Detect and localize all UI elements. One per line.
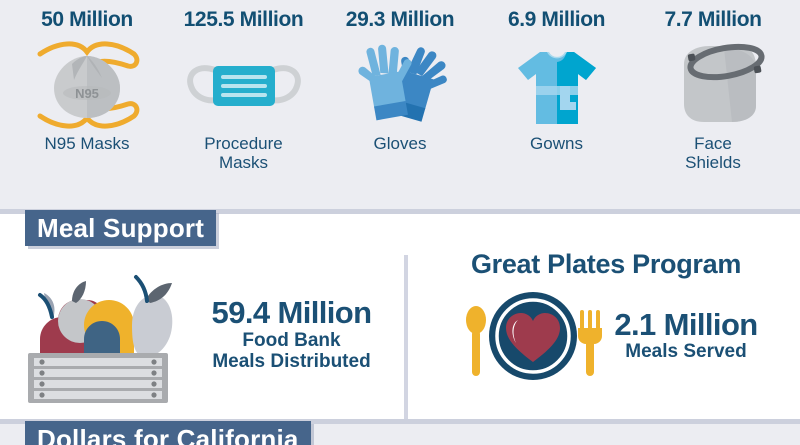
- great-plates-text-group: 2.1 Million Meals Served: [612, 309, 757, 362]
- food-crate-icon: [14, 265, 182, 405]
- gloves-icon: [341, 36, 459, 132]
- ppe-item-face-shields: 7.7 Million Face Shields: [638, 0, 788, 172]
- ppe-count-n95: 50 Million: [41, 8, 133, 32]
- ppe-count-gloves: 29.3 Million: [346, 8, 454, 32]
- great-plates-title: Great Plates Program: [412, 245, 800, 280]
- ppe-count-gowns: 6.9 Million: [508, 8, 605, 32]
- face-shield-icon: [654, 36, 772, 132]
- dollars-ribbon-title: Dollars for California: [25, 421, 311, 445]
- ppe-count-procedure: 125.5 Million: [184, 8, 304, 32]
- great-plates-stat-row: 2.1 Million Meals Served: [412, 286, 800, 386]
- svg-text:N95: N95: [75, 86, 99, 101]
- section-divider-vertical: [404, 255, 408, 419]
- procedure-mask-icon: [185, 36, 303, 132]
- ppe-label-gloves: Gloves: [374, 134, 427, 153]
- ppe-item-gloves: 29.3 Million: [325, 0, 475, 153]
- ppe-label-face-shields: Face Shields: [685, 134, 741, 172]
- food-bank-sub-line1: Food Bank: [184, 330, 399, 351]
- ppe-item-n95-masks: 50 Million N95 N95 Masks: [12, 0, 162, 153]
- ppe-supplies-band: 50 Million N95 N95 Masks 125.5 Million: [0, 0, 800, 209]
- food-bank-sub-line2: Meals Distributed: [184, 351, 399, 372]
- great-plates-number: 2.1 Million: [614, 309, 757, 342]
- food-bank-text-group: 59.4 Million Food Bank Meals Distributed: [182, 297, 399, 372]
- n95-mask-icon: N95: [28, 36, 146, 132]
- ppe-label-procedure: Procedure Masks: [204, 134, 282, 172]
- ppe-item-gowns: 6.9 Million Gowns: [482, 0, 632, 153]
- ppe-label-face-shields-line1: Face: [694, 134, 732, 153]
- food-bank-number: 59.4 Million: [184, 297, 399, 330]
- ppe-label-procedure-line2: Masks: [219, 153, 268, 172]
- ppe-item-procedure-masks: 125.5 Million Procedure Masks: [169, 0, 319, 172]
- great-plates-sub-line1: Meals Served: [614, 342, 757, 363]
- meal-support-ribbon-label: Meal Support: [37, 213, 204, 244]
- ppe-label-n95: N95 Masks: [44, 134, 129, 153]
- great-plates-block: Great Plates Program: [412, 245, 800, 420]
- infographic-root: 50 Million N95 N95 Masks 125.5 Million: [0, 0, 800, 445]
- gown-icon: [498, 36, 616, 132]
- plate-heart-icon: [454, 286, 612, 386]
- ppe-label-procedure-line1: Procedure: [204, 134, 282, 153]
- dollars-ribbon-label: Dollars for California: [37, 424, 299, 445]
- meal-support-ribbon-title: Meal Support: [25, 210, 216, 246]
- food-bank-stat-block: 59.4 Million Food Bank Meals Distributed: [14, 255, 399, 415]
- ppe-count-face-shields: 7.7 Million: [664, 8, 761, 32]
- ppe-label-face-shields-line2: Shields: [685, 153, 741, 172]
- ppe-label-gowns: Gowns: [530, 134, 583, 153]
